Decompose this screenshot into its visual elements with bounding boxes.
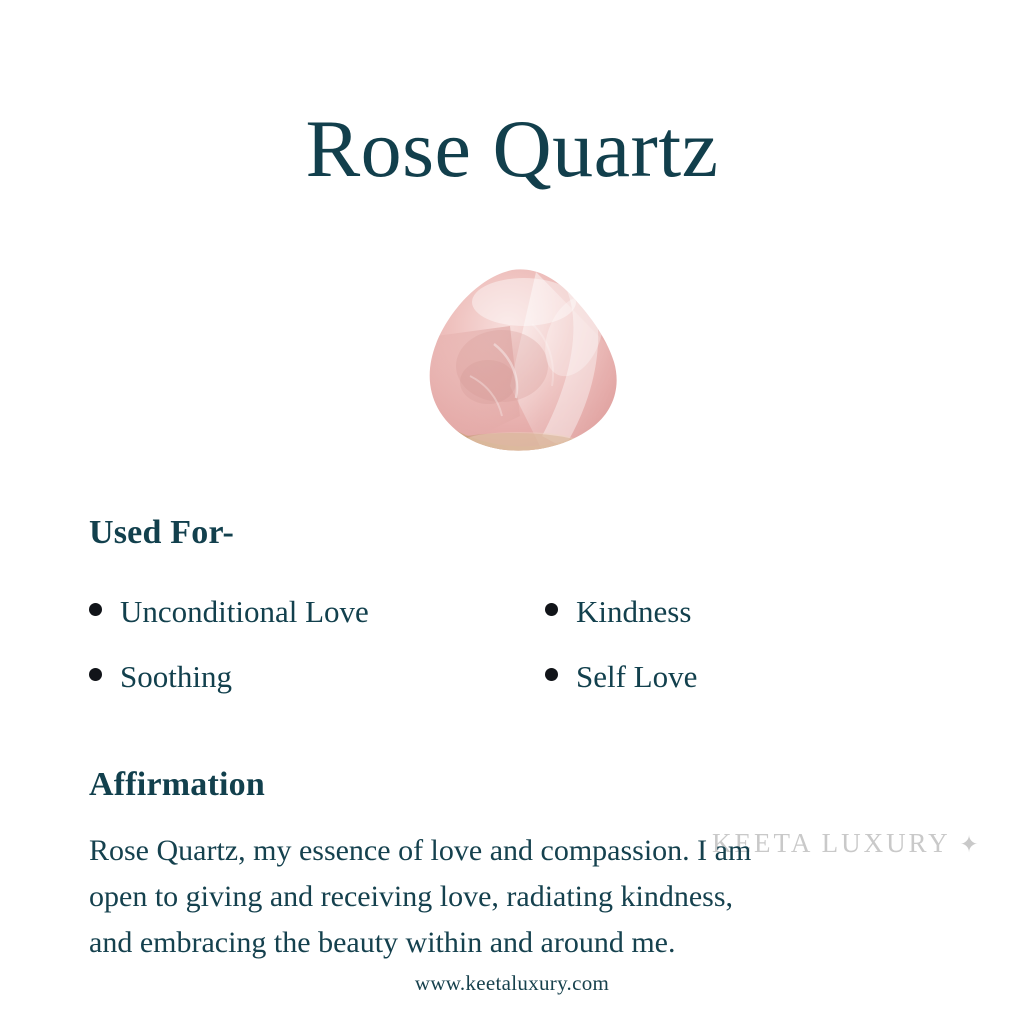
rose-quartz-stone-icon	[424, 266, 624, 458]
list-item: Unconditional Love	[89, 596, 509, 661]
footer-website-url[interactable]: www.keetaluxury.com	[0, 971, 1024, 996]
used-for-list: Unconditional Love Soothing Kindness Sel…	[0, 596, 1024, 716]
bullet-dot-icon	[89, 603, 102, 616]
list-item-label: Soothing	[120, 661, 232, 692]
affirmation-text: Rose Quartz, my essence of love and comp…	[89, 828, 929, 966]
affirmation-line: and embracing the beauty within and arou…	[89, 920, 929, 966]
bullet-dot-icon	[545, 603, 558, 616]
list-item: Soothing	[89, 661, 509, 726]
list-item-label: Self Love	[576, 661, 697, 692]
page-title: Rose Quartz	[0, 108, 1024, 190]
watermark-star-icon: ✦	[959, 832, 978, 857]
used-for-left-column: Unconditional Love Soothing	[89, 596, 509, 726]
list-item: Kindness	[545, 596, 965, 661]
used-for-heading: Used For-	[89, 514, 234, 552]
used-for-right-column: Kindness Self Love	[545, 596, 965, 726]
list-item: Self Love	[545, 661, 965, 726]
affirmation-line: Rose Quartz, my essence of love and comp…	[89, 828, 929, 874]
list-item-label: Unconditional Love	[120, 596, 369, 627]
affirmation-heading: Affirmation	[89, 766, 265, 804]
rose-quartz-info-card: Rose Quartz	[0, 0, 1024, 1024]
affirmation-line: open to giving and receiving love, radia…	[89, 874, 929, 920]
rose-quartz-stone-image	[424, 266, 624, 458]
list-item-label: Kindness	[576, 596, 691, 627]
bullet-dot-icon	[545, 668, 558, 681]
bullet-dot-icon	[89, 668, 102, 681]
